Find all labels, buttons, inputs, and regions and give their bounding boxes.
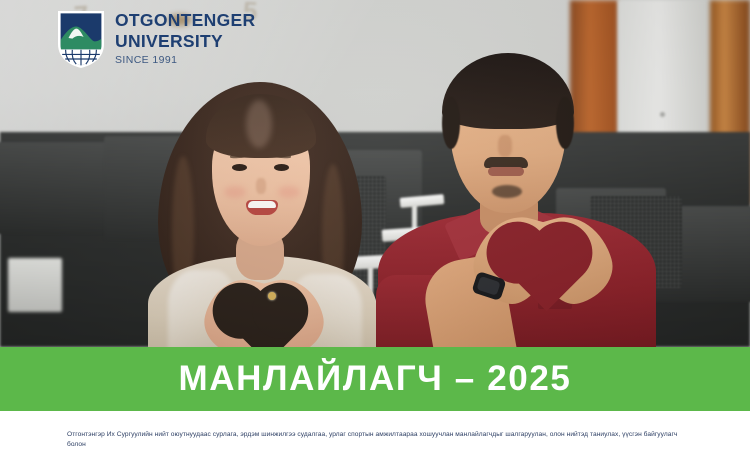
eye [274, 164, 289, 171]
hair-side [556, 97, 574, 149]
fringe-part [246, 100, 272, 148]
title-banner: МАНЛАЙЛАГЧ – 2025 [0, 347, 750, 411]
student-female [150, 60, 370, 347]
description-paragraph: Отгонтэнгэр Их Сургуулийн нийт оюутнууда… [67, 430, 684, 450]
poster-screen: 7 5 [0, 0, 750, 450]
watch-face [476, 276, 500, 296]
university-shield-crest-icon [56, 8, 106, 70]
description-block: Отгонтэнгэр Их Сургуулийн нийт оюутнууда… [0, 411, 750, 450]
heart-shape-negative-space [228, 291, 300, 347]
teeth [248, 201, 276, 208]
nose [256, 178, 266, 194]
mouth [488, 167, 524, 176]
hand-heart-gesture [206, 278, 322, 347]
cheek-blush [278, 186, 300, 198]
logo-wordmark: OTGONTENGER UNIVERSITY SINCE 1991 [115, 12, 255, 66]
pillar-mark [660, 112, 665, 117]
hair-side [442, 97, 460, 149]
eye [232, 164, 247, 171]
logo-since-text: SINCE 1991 [115, 55, 255, 66]
seat-back [0, 142, 110, 234]
hair [442, 53, 574, 129]
logo-line-2: UNIVERSITY [115, 33, 255, 51]
logo-line-1: OTGONTENGER [115, 12, 255, 30]
desk-shelf [8, 258, 62, 312]
hand-heart-gesture [476, 215, 610, 307]
cheek-blush [224, 186, 246, 198]
banner-title: МАНЛАЙЛАГЧ – 2025 [179, 359, 572, 399]
finger-ring [268, 292, 276, 300]
hero-photo: 7 5 [0, 0, 750, 347]
chin-beard [492, 185, 522, 198]
nose [498, 135, 512, 157]
student-male [392, 45, 642, 347]
university-logo: OTGONTENGER UNIVERSITY SINCE 1991 [56, 8, 255, 70]
